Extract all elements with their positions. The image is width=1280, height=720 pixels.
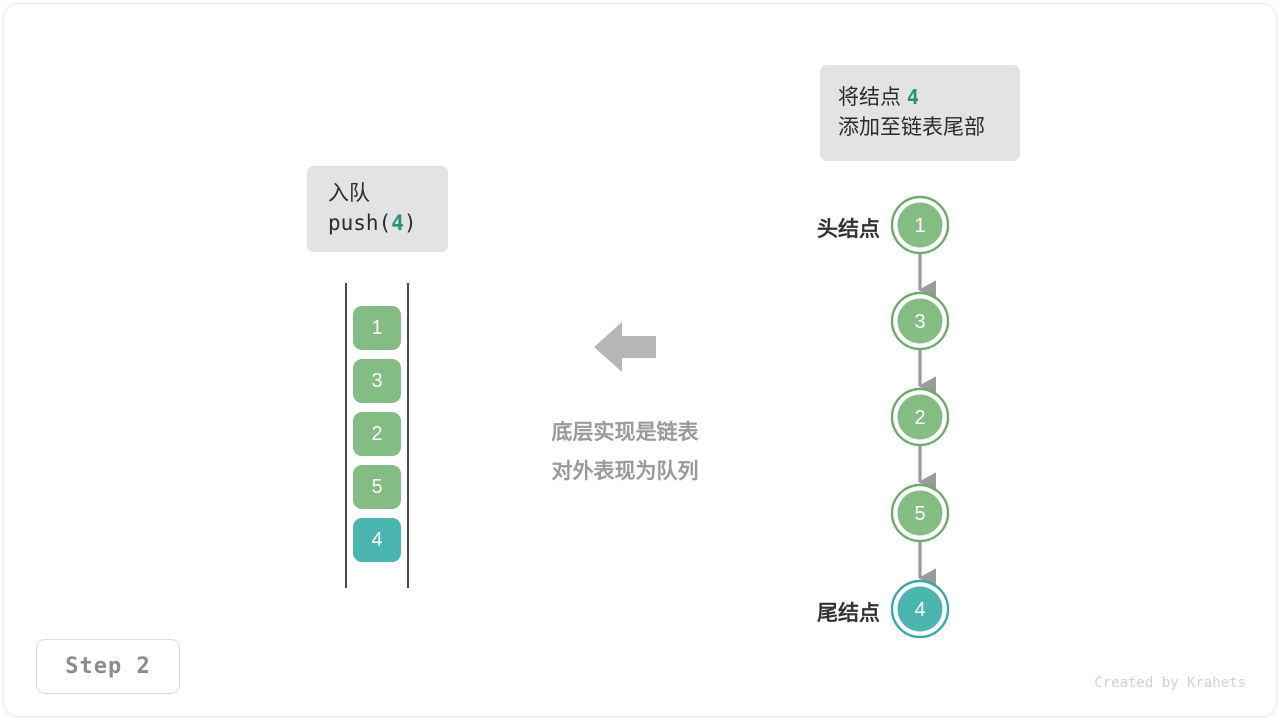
diagram-canvas: 入队 push(4) 将结点 4 添加至链表尾部 13254 底层实现是链表 对… bbox=[0, 0, 1280, 720]
queue-box-4: 4 bbox=[353, 518, 401, 562]
queue-box-1: 1 bbox=[353, 306, 401, 350]
queue-box-value: 3 bbox=[371, 370, 382, 393]
queue-box-value: 5 bbox=[371, 476, 382, 499]
queue-box-3: 3 bbox=[353, 359, 401, 403]
callout-push-line1: 入队 bbox=[328, 179, 448, 209]
queue-rail-right bbox=[407, 283, 409, 588]
linked-list-graphics: 13254 bbox=[770, 180, 1000, 650]
center-caption-line1: 底层实现是链表 bbox=[500, 413, 750, 452]
queue-column: 13254 bbox=[345, 283, 409, 588]
push-call-prefix: push( bbox=[328, 211, 391, 235]
queue-rail-left bbox=[345, 283, 347, 588]
callout-append-node: 将结点 4 添加至链表尾部 bbox=[820, 65, 1020, 161]
list-node-3: 3 bbox=[892, 293, 948, 349]
left-arrow-icon bbox=[594, 318, 656, 376]
queue-box-5: 5 bbox=[353, 465, 401, 509]
queue-box-value: 1 bbox=[371, 317, 382, 340]
append-line1-prefix: 将结点 bbox=[838, 86, 907, 109]
queue-box-value: 2 bbox=[371, 423, 382, 446]
list-node-2: 2 bbox=[892, 389, 948, 445]
callout-append-line2: 添加至链表尾部 bbox=[838, 113, 1020, 143]
list-node-value: 5 bbox=[914, 503, 925, 525]
list-node-5: 5 bbox=[892, 485, 948, 541]
head-node-label: 头结点 bbox=[780, 213, 880, 243]
push-call-suffix: ) bbox=[404, 211, 417, 235]
callout-append-line1: 将结点 4 bbox=[838, 83, 1020, 113]
step-badge: Step 2 bbox=[36, 639, 180, 694]
append-line1-value: 4 bbox=[907, 85, 919, 109]
center-caption: 底层实现是链表 对外表现为队列 bbox=[500, 413, 750, 492]
queue-box-value: 4 bbox=[371, 529, 382, 552]
center-caption-line2: 对外表现为队列 bbox=[500, 452, 750, 491]
push-call-value: 4 bbox=[391, 211, 404, 235]
queue-box-2: 2 bbox=[353, 412, 401, 456]
list-node-1: 1 bbox=[892, 197, 948, 253]
callout-push-line2: push(4) bbox=[328, 209, 448, 239]
list-node-value: 3 bbox=[914, 311, 925, 333]
linked-list: 13254 头结点 尾结点 bbox=[770, 180, 1000, 650]
callout-push-operation: 入队 push(4) bbox=[307, 166, 448, 252]
list-node-value: 4 bbox=[914, 599, 925, 621]
tail-node-label: 尾结点 bbox=[780, 597, 880, 627]
credit-text: Created by Krahets bbox=[1094, 675, 1246, 691]
list-node-value: 2 bbox=[914, 407, 925, 429]
list-node-4: 4 bbox=[892, 581, 948, 637]
list-node-value: 1 bbox=[914, 215, 925, 237]
